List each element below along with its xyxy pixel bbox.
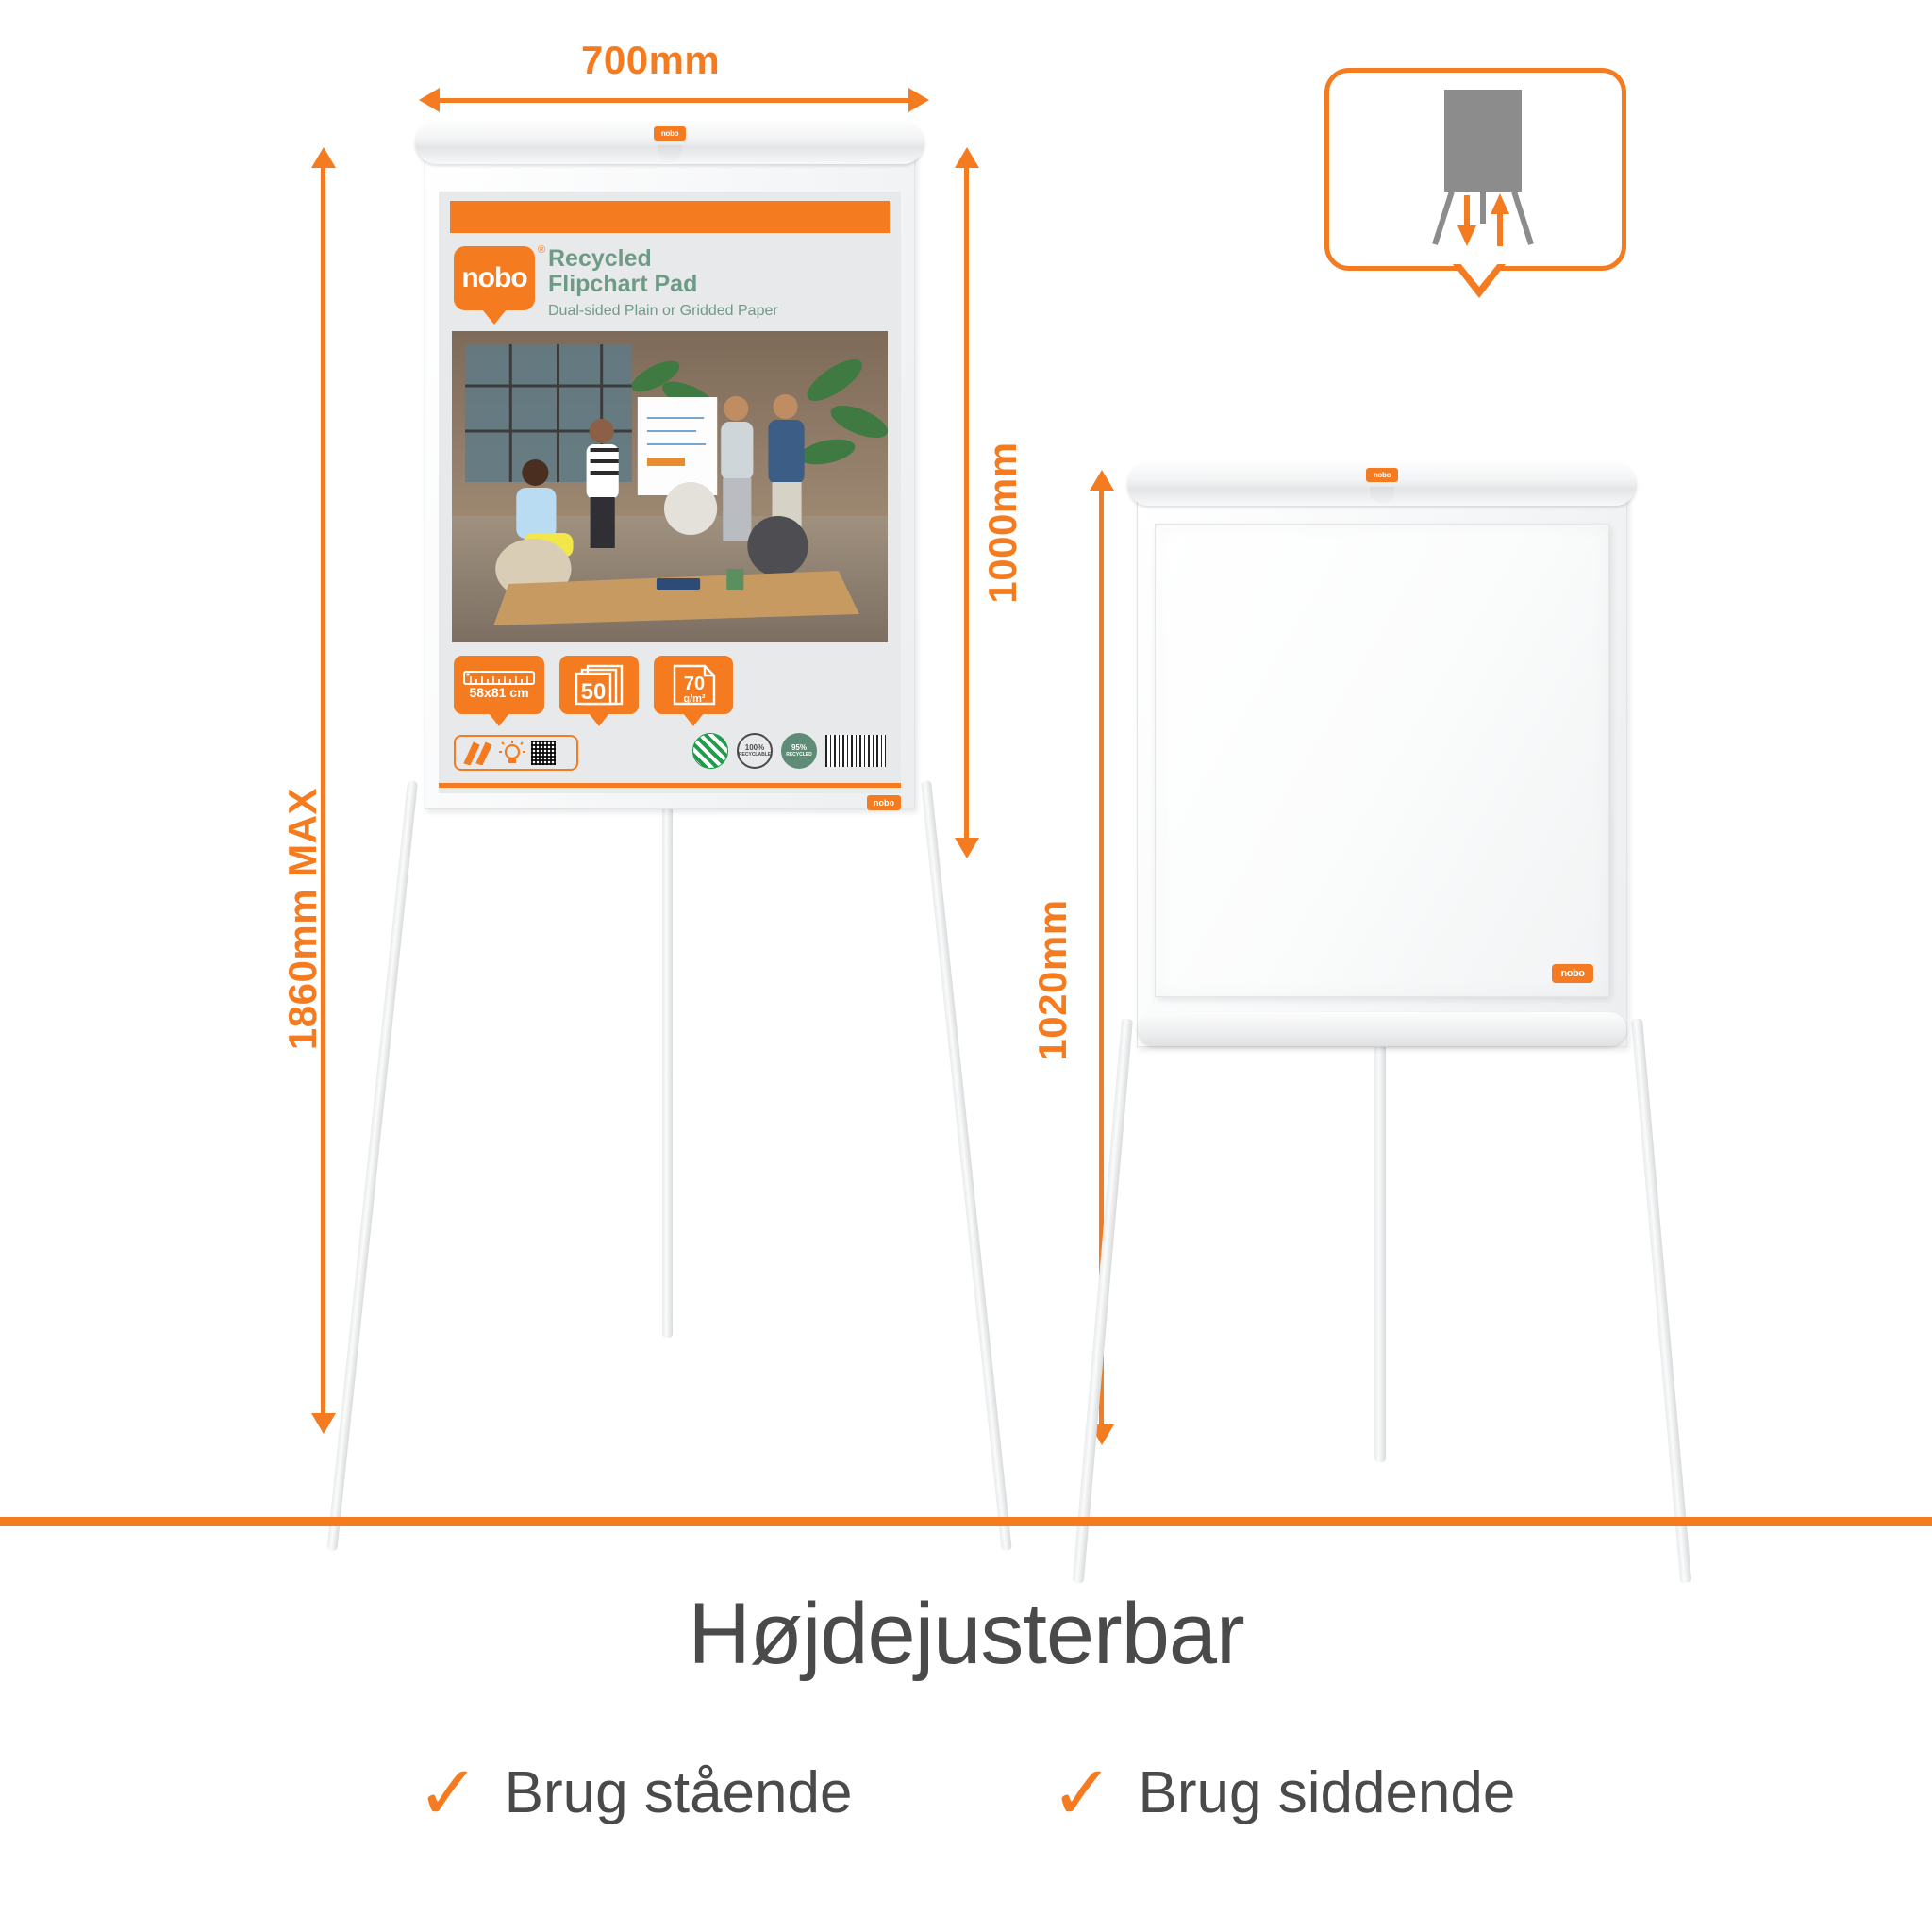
product-infographic: 700mm 1860mm MAX 1000mm 1020mm (0, 0, 1932, 1932)
board-height-arrow-up-icon (955, 147, 979, 168)
svg-text:g/m²: g/m² (683, 693, 706, 705)
rail2-nobo-logo: nobo (1366, 468, 1398, 482)
footer-section: Højdejusterbar ✓ Brug stående ✓ Brug sid… (0, 1585, 1932, 1826)
svg-text:50: 50 (581, 679, 607, 705)
nobo-logo-text: nobo (461, 262, 526, 294)
width-arrow-left-icon (419, 88, 440, 112)
pad-subtitle: Dual-sided Plain or Gridded Paper (548, 303, 778, 320)
pad-accessory-strip (454, 735, 578, 771)
rail-nobo-logo: nobo (654, 126, 686, 141)
badge-size-label: 58x81 cm (469, 685, 528, 700)
easel2-leg-right (1631, 1018, 1691, 1583)
recyclable-badge-icon: 100% RECYCLABLE (737, 733, 773, 769)
recycled-badge-icon: 95% RECYCLED (781, 733, 817, 769)
feature-standing: ✓ Brug stående (417, 1759, 853, 1826)
easel-leg-center (662, 781, 673, 1338)
height-adjustable-easel-icon (1329, 73, 1622, 266)
easel-leg-left (326, 780, 418, 1551)
badge-paper-weight: 70 g/m² (654, 656, 733, 714)
board-height-dimension-label: 1000mm (980, 367, 1025, 678)
footer-feature-list: ✓ Brug stående ✓ Brug siddende (0, 1759, 1932, 1826)
check-icon: ✓ (1050, 1763, 1113, 1824)
easel2-board: nobo (1137, 491, 1627, 1047)
recyclable-text: RECYCLABLE (739, 753, 771, 758)
ruler-icon (463, 671, 535, 685)
easel2-leg-center (1374, 1019, 1386, 1462)
sheets-icon: 50 (573, 663, 625, 707)
easel-board: nobo ® Recycled Flipchart Pad Dual-sided… (425, 149, 915, 809)
qr-code-icon (531, 741, 556, 765)
nobo-logo: nobo ® (454, 246, 535, 310)
registered-trademark-icon: ® (538, 244, 545, 256)
easel2-foot-rail (1138, 1012, 1626, 1046)
badge-size: 58x81 cm (454, 656, 544, 714)
pad-top-bar (450, 201, 890, 233)
svg-text:70: 70 (684, 674, 705, 694)
barcode-icon (825, 735, 886, 767)
max-height-arrow-up-icon (311, 147, 336, 168)
pad-certifications: 100% RECYCLABLE 95% RECYCLED (692, 733, 886, 769)
eco-green-badge-icon (692, 733, 728, 769)
height-adjustment-callout (1324, 68, 1626, 271)
footer-heading: Højdejusterbar (0, 1585, 1932, 1684)
flipchart-easel-blank: nobo nobo (1127, 462, 1637, 1481)
board-height-dimension-line (964, 168, 969, 838)
pad-title-line1: Recycled (548, 246, 778, 272)
pad-corner-nobo-logo: nobo (867, 795, 901, 810)
pad-title-line2: Flipchart Pad (548, 272, 778, 297)
easel2-head-rail: nobo (1127, 462, 1637, 506)
pad-feature-badges: 58x81 cm 50 (439, 642, 901, 714)
feature-sitting-label: Brug siddende (1139, 1759, 1516, 1826)
lightbulb-icon (498, 740, 526, 766)
pad-lifestyle-photo (452, 331, 888, 642)
flipchart-pad-cover: nobo ® Recycled Flipchart Pad Dual-sided… (439, 192, 901, 793)
pad-bottom-bar (439, 783, 901, 788)
check-icon: ✓ (417, 1763, 480, 1824)
marker-pen-icon (461, 741, 493, 765)
board-height-arrow-down-icon (955, 838, 979, 858)
max-height-arrow-down-icon (311, 1413, 336, 1434)
callout-tail-inner (1459, 262, 1499, 287)
pad-header: nobo ® Recycled Flipchart Pad Dual-sided… (439, 233, 901, 327)
width-arrow-right-icon (908, 88, 929, 112)
easel-leg-right (921, 780, 1012, 1551)
max-height-dimension-label: 1860mm MAX (280, 721, 325, 1117)
seated-height-dimension-label: 1020mm (1030, 824, 1075, 1136)
easel-head-rail: nobo (415, 121, 924, 164)
width-dimension-line (439, 98, 910, 103)
pad-title-block: Recycled Flipchart Pad Dual-sided Plain … (548, 246, 778, 320)
seated-height-arrow-up-icon (1090, 470, 1114, 491)
blank-whiteboard-surface: nobo (1155, 524, 1609, 997)
flipchart-easel-with-pad: nobo ® Recycled Flipchart Pad Dual-sided… (415, 121, 924, 1441)
paper-weight-icon: 70 g/m² (667, 663, 720, 707)
badge-sheet-count: 50 (559, 656, 639, 714)
width-dimension-label: 700mm (581, 38, 720, 83)
feature-sitting: ✓ Brug siddende (1050, 1759, 1515, 1826)
section-divider (0, 1517, 1932, 1526)
recycled-text: RECYCLED (786, 753, 812, 758)
whiteboard-nobo-logo: nobo (1552, 964, 1593, 983)
feature-standing-label: Brug stående (505, 1759, 853, 1826)
